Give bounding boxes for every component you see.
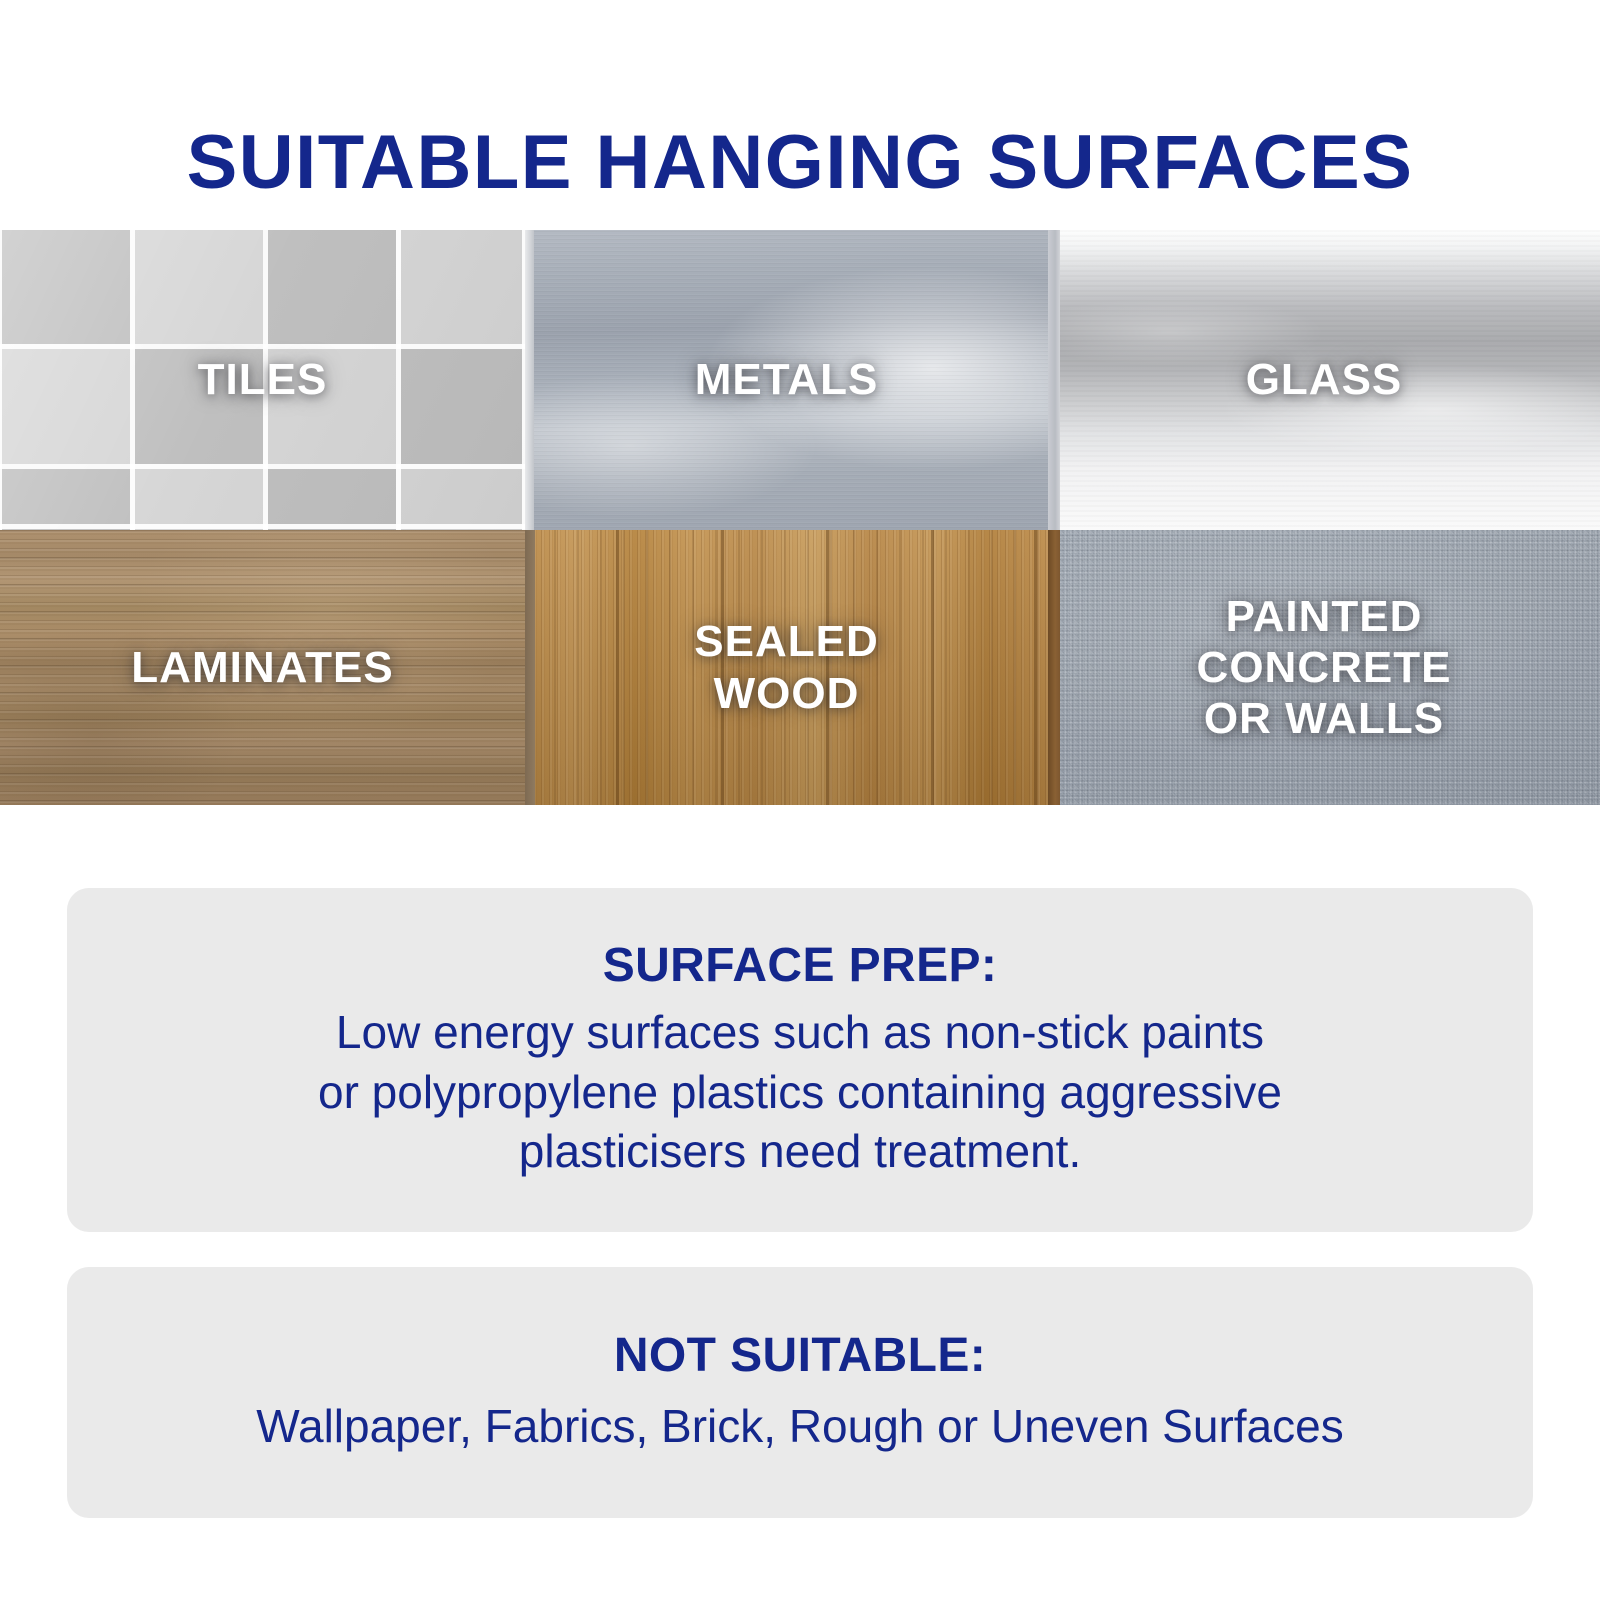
not-suitable-box: NOT SUITABLE: Wallpaper, Fabrics, Brick,… (67, 1267, 1533, 1518)
surface-label-glass: GLASS (1246, 354, 1403, 405)
page-title: SUITABLE HANGING SURFACES (0, 123, 1600, 203)
surface-cell-sealed-wood: SEALED WOOD (525, 530, 1048, 805)
surface-cell-metals: METALS (525, 230, 1048, 530)
surface-label-laminates: LAMINATES (131, 642, 393, 693)
surface-cell-laminates: LAMINATES (0, 530, 525, 805)
surface-label-tiles: TILES (198, 354, 328, 405)
surface-cell-tiles: TILES (0, 230, 525, 530)
surface-label-painted-concrete: PAINTED CONCRETE OR WALLS (1197, 591, 1452, 744)
surface-label-metals: METALS (695, 354, 879, 405)
not-suitable-heading: NOT SUITABLE: (614, 1328, 986, 1383)
not-suitable-body: Wallpaper, Fabrics, Brick, Rough or Unev… (216, 1397, 1383, 1457)
surface-prep-heading: SURFACE PREP: (603, 938, 998, 993)
surface-grid: TILES METALS GLASS LAMINATES SEALED WOOD… (0, 230, 1600, 805)
surface-prep-body: Low energy surfaces such as non-stick pa… (278, 1003, 1322, 1182)
surface-prep-box: SURFACE PREP: Low energy surfaces such a… (67, 888, 1533, 1232)
surface-cell-painted-concrete: PAINTED CONCRETE OR WALLS (1048, 530, 1600, 805)
surface-cell-glass: GLASS (1048, 230, 1600, 530)
surface-label-sealed-wood: SEALED WOOD (694, 616, 878, 718)
